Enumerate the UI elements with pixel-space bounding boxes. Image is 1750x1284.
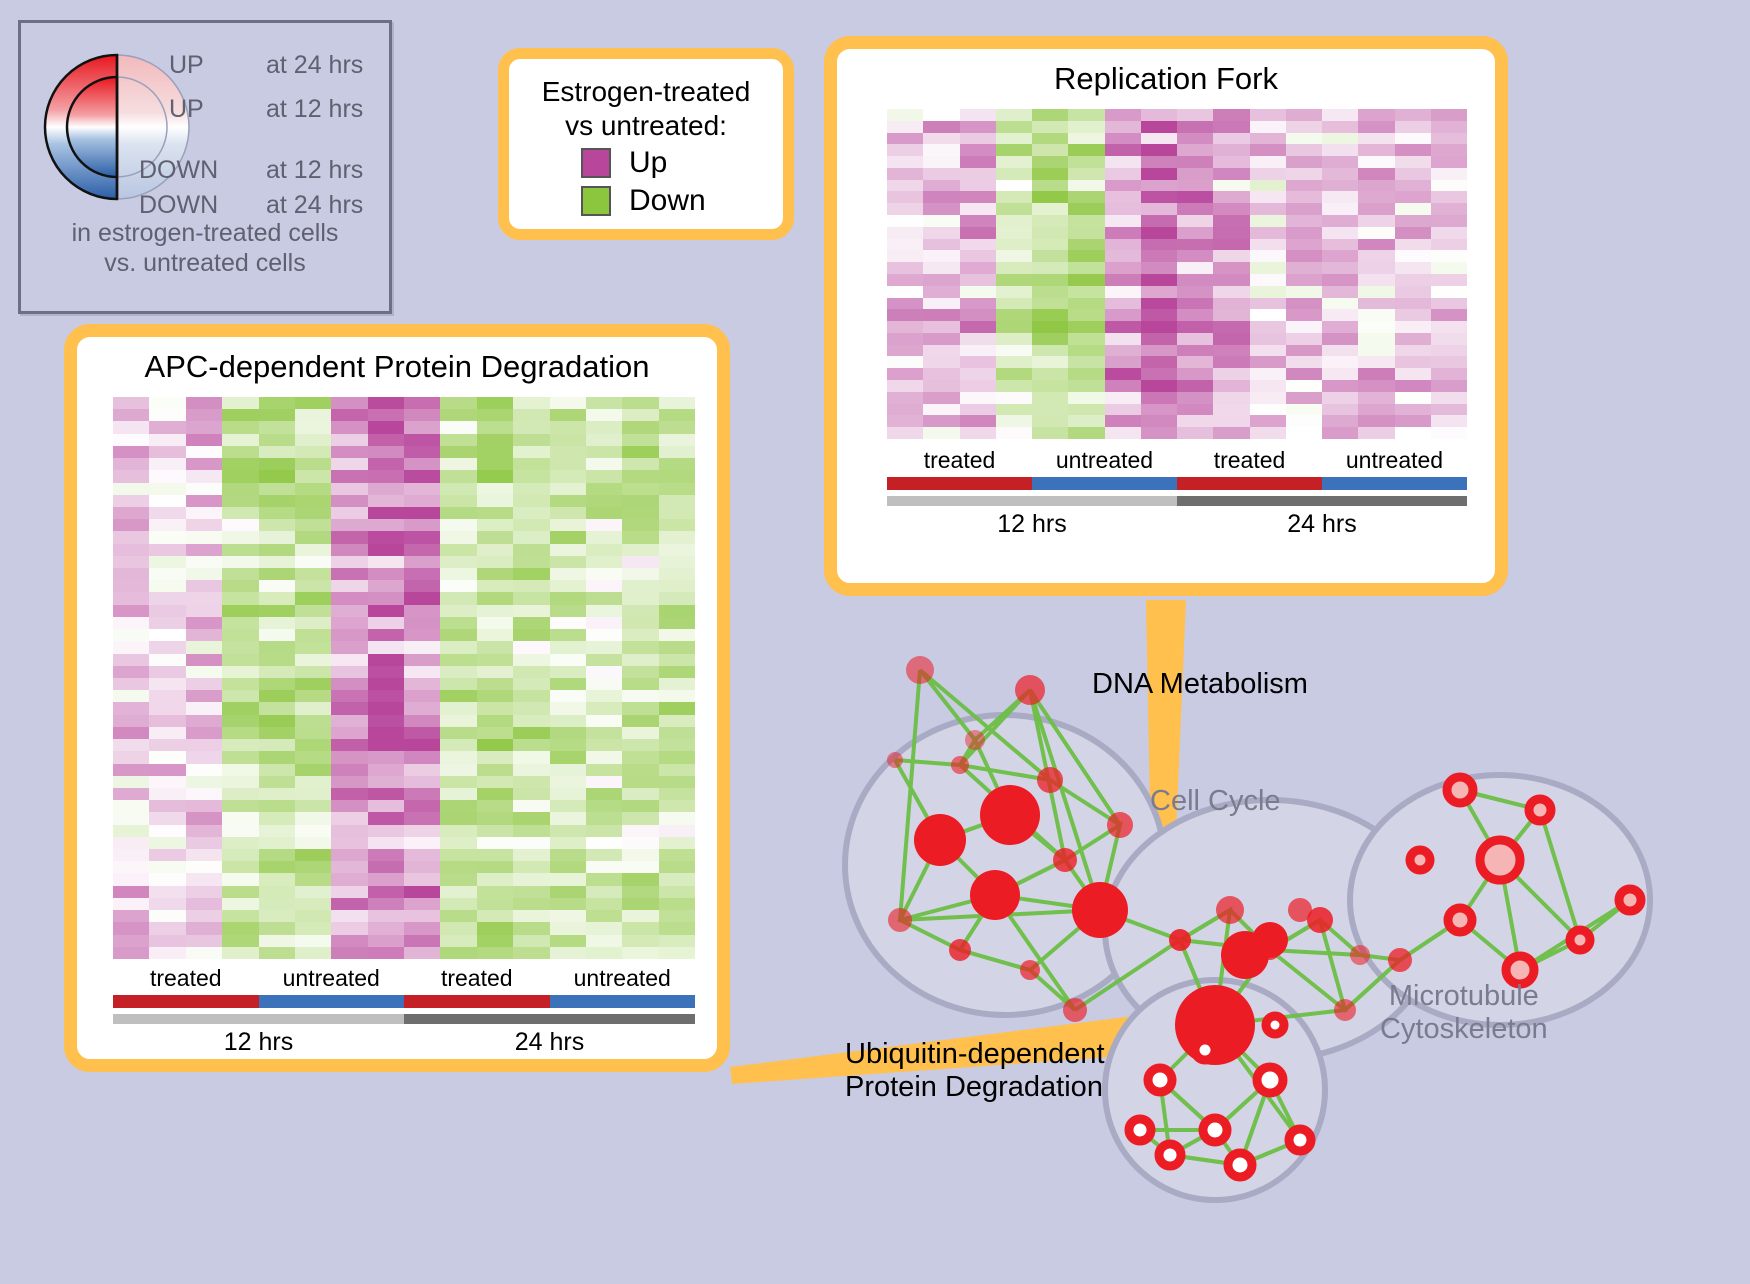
heatmap-cell [659, 544, 695, 556]
heatmap-cell [1322, 274, 1358, 286]
heatmap-cell [1250, 427, 1286, 439]
heatmap-cell [186, 409, 222, 421]
heatmap-cell [586, 837, 622, 849]
heatmap-cell [1322, 368, 1358, 380]
heatmap-cell [1105, 180, 1141, 192]
heatmap-cell [149, 397, 185, 409]
heatmap-cell [996, 191, 1032, 203]
heatmap-cell [586, 397, 622, 409]
heatmap-cell [659, 849, 695, 861]
heatmap-cell [586, 764, 622, 776]
heatmap-cell [887, 309, 923, 321]
heatmap-cell [186, 446, 222, 458]
heatmap-cell [622, 849, 658, 861]
heatmap-cell [222, 935, 258, 947]
heatmap-cell [586, 922, 622, 934]
heatmap-cell [1032, 133, 1068, 145]
heatmap-cell [887, 215, 923, 227]
heatmap-cell [404, 470, 440, 482]
heatmap-cell [404, 654, 440, 666]
heatmap-cell [1032, 345, 1068, 357]
heatmap-cell [295, 605, 331, 617]
heatmap-cell [1322, 404, 1358, 416]
heatmap-cell [331, 654, 367, 666]
heatmap-cell [622, 446, 658, 458]
heatmap-cell [1395, 239, 1431, 251]
heatmap-cell [1431, 274, 1467, 286]
heatmap-cell [1431, 109, 1467, 121]
heatmap-cell [149, 470, 185, 482]
heatmap-cell [477, 873, 513, 885]
heatmap-cell [440, 812, 476, 824]
heatmap-cell [186, 727, 222, 739]
heatmap-cell [887, 321, 923, 333]
bar-segment [550, 995, 696, 1008]
heatmap-cell [149, 507, 185, 519]
heatmap-cell [513, 397, 549, 409]
legend-time-label: at 12 hrs [266, 156, 363, 184]
legend-item-down-label: Down [629, 184, 706, 218]
heatmap-cell [1032, 427, 1068, 439]
heatmap-cell [1322, 156, 1358, 168]
heatmap-cell [513, 409, 549, 421]
heatmap-cell [550, 935, 586, 947]
heatmap-cell [1032, 286, 1068, 298]
heatmap-cell [222, 800, 258, 812]
heatmap-cell [996, 298, 1032, 310]
heatmap-cell [113, 727, 149, 739]
heatmap-cell [113, 666, 149, 678]
heatmap-cell [1213, 168, 1249, 180]
panel-apc-degradation: APC-dependent Protein Degradation treate… [64, 324, 730, 1072]
heatmap-cell [440, 702, 476, 714]
heatmap-cell [259, 666, 295, 678]
heatmap-cell [259, 873, 295, 885]
heatmap-cell [622, 898, 658, 910]
heatmap-cell [659, 702, 695, 714]
heatmap-cell [550, 825, 586, 837]
heatmap-cell [477, 910, 513, 922]
heatmap-cell [295, 556, 331, 568]
heatmap-cell [113, 861, 149, 873]
heatmap-cell [259, 580, 295, 592]
heatmap-cell [368, 519, 404, 531]
heatmap-cell [404, 507, 440, 519]
heatmap-cell [186, 776, 222, 788]
heatmap-cell [550, 947, 586, 959]
heatmap-cell [996, 321, 1032, 333]
heatmap-cell [1358, 356, 1394, 368]
heatmap-cell [331, 886, 367, 898]
heatmap-cell [996, 404, 1032, 416]
heatmap-cell [659, 409, 695, 421]
heatmap-cell [404, 629, 440, 641]
heatmap-cell [1286, 427, 1322, 439]
heatmap-cell [996, 227, 1032, 239]
heatmap-cell [1358, 345, 1394, 357]
heatmap-cell [1431, 298, 1467, 310]
heatmap-cell [923, 191, 959, 203]
condition-label: untreated [1032, 447, 1177, 474]
heatmap-cell [113, 837, 149, 849]
heatmap-cell [440, 605, 476, 617]
heatmap-cell [923, 333, 959, 345]
heatmap-cell [186, 849, 222, 861]
heatmap-cell [404, 556, 440, 568]
heatmap-cell [1141, 427, 1177, 439]
heatmap-cell [1141, 274, 1177, 286]
heatmap-cell [295, 531, 331, 543]
heatmap-cell [923, 404, 959, 416]
heatmap-cell [477, 922, 513, 934]
down-color-swatch [581, 186, 611, 216]
heatmap-cell [1358, 109, 1394, 121]
heatmap-cell [1068, 415, 1104, 427]
heatmap-cell [1177, 368, 1213, 380]
heatmap-cell [1068, 298, 1104, 310]
heatmap-cell [622, 751, 658, 763]
heatmap-cell [477, 617, 513, 629]
heatmap-cell [477, 434, 513, 446]
heatmap-cell [222, 910, 258, 922]
heatmap-cell [149, 556, 185, 568]
heatmap-apc [113, 397, 695, 959]
heatmap-cell [622, 507, 658, 519]
legend-direction-label: UP [169, 95, 204, 123]
heatmap-cell [1286, 203, 1322, 215]
time-labels-apc: 12 hrs 24 hrs [113, 1028, 695, 1057]
heatmap-cell [1250, 392, 1286, 404]
heatmap-cell [186, 556, 222, 568]
heatmap-cell [1068, 250, 1104, 262]
time-label: 24 hrs [404, 1028, 695, 1057]
heatmap-cell [1177, 191, 1213, 203]
heatmap-cell [622, 812, 658, 824]
heatmap-cell [331, 605, 367, 617]
heatmap-cell [331, 739, 367, 751]
heatmap-cell [586, 654, 622, 666]
heatmap-cell [259, 776, 295, 788]
heatmap-cell [622, 434, 658, 446]
heatmap-cell [550, 446, 586, 458]
heatmap-cell [622, 800, 658, 812]
heatmap-cell [622, 825, 658, 837]
legend-item-up: Up [581, 146, 773, 180]
heatmap-cell [295, 861, 331, 873]
heatmap-cell [960, 144, 996, 156]
heatmap-cell [1286, 392, 1322, 404]
heatmap-cell [1032, 274, 1068, 286]
heatmap-cell [513, 910, 549, 922]
heatmap-cell [923, 321, 959, 333]
heatmap-cell [960, 356, 996, 368]
heatmap-cell [622, 592, 658, 604]
heatmap-cell [513, 727, 549, 739]
heatmap-cell [295, 678, 331, 690]
heatmap-cell [331, 751, 367, 763]
heatmap-cell [331, 947, 367, 959]
legend-time-up-12: at 12 hrs [266, 95, 363, 124]
heatmap-cell [1177, 262, 1213, 274]
heatmap-cell [550, 886, 586, 898]
heatmap-cell [1177, 203, 1213, 215]
heatmap-cell [1358, 239, 1394, 251]
legend-row-up-24: UP [169, 51, 204, 80]
heatmap-cell [960, 274, 996, 286]
heatmap-cell [1358, 274, 1394, 286]
heatmap-cell [1250, 191, 1286, 203]
heatmap-cell [186, 519, 222, 531]
bar-segment [113, 1014, 404, 1024]
heatmap-cell [513, 641, 549, 653]
heatmap-cell [331, 849, 367, 861]
heatmap-cell [186, 922, 222, 934]
heatmap-cell [513, 800, 549, 812]
heatmap-cell [1213, 298, 1249, 310]
heatmap-cell [149, 678, 185, 690]
heatmap-cell [331, 592, 367, 604]
heatmap-cell [887, 121, 923, 133]
heatmap-cell [259, 470, 295, 482]
heatmap-cell [331, 922, 367, 934]
legend-time-label: at 12 hrs [266, 95, 363, 123]
heatmap-cell [1250, 309, 1286, 321]
heatmap-cell [404, 617, 440, 629]
heatmap-cell [477, 849, 513, 861]
heatmap-cell [295, 458, 331, 470]
heatmap-cell [1177, 274, 1213, 286]
heatmap-cell [1177, 392, 1213, 404]
heatmap-cell [222, 434, 258, 446]
heatmap-cell [1431, 144, 1467, 156]
heatmap-cell [1286, 239, 1322, 251]
heatmap-cell [222, 751, 258, 763]
heatmap-cell [1286, 144, 1322, 156]
legend-footer: in estrogen-treated cells vs. untreated … [21, 219, 389, 278]
heatmap-cell [887, 250, 923, 262]
heatmap-cell [477, 690, 513, 702]
heatmap-cell [1395, 180, 1431, 192]
heatmap-cell [1105, 345, 1141, 357]
heatmap-cell [1068, 286, 1104, 298]
heatmap-cell [1141, 286, 1177, 298]
heatmap-cell [1250, 415, 1286, 427]
heatmap-cell [923, 227, 959, 239]
time-color-bar-replication [887, 496, 1467, 506]
heatmap-cell [149, 935, 185, 947]
heatmap-cell [113, 629, 149, 641]
heatmap-cell [477, 409, 513, 421]
heatmap-cell [1141, 191, 1177, 203]
heatmap-cell [186, 690, 222, 702]
heatmap-cell [259, 800, 295, 812]
heatmap-cell [923, 133, 959, 145]
heatmap-cell [513, 568, 549, 580]
heatmap-cell [1032, 262, 1068, 274]
heatmap-cell [1105, 191, 1141, 203]
heatmap-cell [368, 556, 404, 568]
heatmap-cell [1286, 286, 1322, 298]
heatmap-cell [404, 580, 440, 592]
heatmap-cell [887, 180, 923, 192]
heatmap-cell [222, 519, 258, 531]
panel-replication-fork: Replication Fork treated untreated treat… [824, 36, 1508, 596]
heatmap-cell [513, 617, 549, 629]
heatmap-cell [295, 495, 331, 507]
heatmap-cell [404, 605, 440, 617]
heatmap-cell [149, 788, 185, 800]
time-color-bar-apc [113, 1014, 695, 1024]
heatmap-cell [1322, 180, 1358, 192]
heatmap-cell [1431, 191, 1467, 203]
heatmap-cell [1105, 286, 1141, 298]
heatmap-cell [960, 427, 996, 439]
heatmap-cell [404, 568, 440, 580]
heatmap-cell [113, 910, 149, 922]
heatmap-cell [1322, 121, 1358, 133]
heatmap-cell [1068, 333, 1104, 345]
heatmap-cell [513, 519, 549, 531]
heatmap-cell [1105, 239, 1141, 251]
heatmap-cell [550, 531, 586, 543]
heatmap-cell [1250, 109, 1286, 121]
heatmap-cell [960, 321, 996, 333]
heatmap-cell [295, 812, 331, 824]
heatmap-cell [622, 764, 658, 776]
heatmap-cell [622, 702, 658, 714]
heatmap-cell [404, 495, 440, 507]
heatmap-cell [1177, 156, 1213, 168]
heatmap-cell [996, 180, 1032, 192]
heatmap-cell [1322, 262, 1358, 274]
heatmap-cell [996, 121, 1032, 133]
heatmap-cell [186, 800, 222, 812]
heatmap-cell [295, 568, 331, 580]
heatmap-cell [222, 678, 258, 690]
heatmap-cell [477, 446, 513, 458]
heatmap-cell [586, 739, 622, 751]
heatmap-cell [113, 812, 149, 824]
heatmap-cell [149, 641, 185, 653]
heatmap-cell [186, 861, 222, 873]
bar-segment [1322, 477, 1467, 490]
heatmap-cell [222, 764, 258, 776]
heatmap-cell [1358, 168, 1394, 180]
heatmap-cell [1250, 404, 1286, 416]
heatmap-cell [513, 592, 549, 604]
heatmap-cell [550, 715, 586, 727]
heatmap-cell [1395, 333, 1431, 345]
heatmap-cell [960, 168, 996, 180]
heatmap-cell [659, 483, 695, 495]
heatmap-cell [513, 886, 549, 898]
heatmap-cell [960, 345, 996, 357]
heatmap-cell [440, 678, 476, 690]
heatmap-cell [440, 434, 476, 446]
heatmap-cell [1322, 427, 1358, 439]
heatmap-cell [1141, 333, 1177, 345]
heatmap-cell [1105, 156, 1141, 168]
heatmap-cell [440, 947, 476, 959]
heatmap-cell [259, 397, 295, 409]
heatmap-cell [923, 121, 959, 133]
heatmap-cell [1068, 262, 1104, 274]
heatmap-cell [960, 298, 996, 310]
heatmap-cell [1431, 345, 1467, 357]
heatmap-cell [887, 427, 923, 439]
heatmap-cell [113, 397, 149, 409]
condition-labels-replication: treated untreated treated untreated [887, 447, 1467, 474]
heatmap-cell [1213, 215, 1249, 227]
heatmap-cell [659, 739, 695, 751]
legend-time-up-24: at 24 hrs [266, 51, 363, 80]
heatmap-cell [1105, 215, 1141, 227]
heatmap-cell [295, 641, 331, 653]
heatmap-cell [659, 800, 695, 812]
heatmap-cell [186, 947, 222, 959]
heatmap-cell [477, 470, 513, 482]
heatmap-cell [368, 825, 404, 837]
heatmap-cell [1250, 144, 1286, 156]
heatmap-cell [186, 910, 222, 922]
heatmap-cell [1141, 250, 1177, 262]
heatmap-cell [440, 739, 476, 751]
condition-label: untreated [259, 965, 405, 992]
heatmap-cell [622, 910, 658, 922]
heatmap-cell [1141, 392, 1177, 404]
heatmap-cell [550, 654, 586, 666]
heatmap-cell [1250, 321, 1286, 333]
heatmap-cell [477, 544, 513, 556]
heatmap-cell [550, 873, 586, 885]
heatmap-cell [923, 144, 959, 156]
heatmap-cell [295, 739, 331, 751]
heatmap-cell [887, 415, 923, 427]
heatmap-cell [659, 666, 695, 678]
heatmap-cell [586, 568, 622, 580]
heatmap-cell [586, 861, 622, 873]
heatmap-cell [368, 800, 404, 812]
heatmap-cell [1032, 392, 1068, 404]
heatmap-cell [222, 483, 258, 495]
heatmap-cell [513, 470, 549, 482]
heatmap-cell [295, 788, 331, 800]
heatmap-cell [622, 483, 658, 495]
heatmap-cell [960, 203, 996, 215]
heatmap-cell [404, 458, 440, 470]
heatmap-cell [1105, 168, 1141, 180]
heatmap-cell [887, 356, 923, 368]
heatmap-cell [404, 397, 440, 409]
heatmap-cell [404, 764, 440, 776]
heatmap-cell [586, 544, 622, 556]
heatmap-cell [513, 849, 549, 861]
heatmap-cell [1177, 144, 1213, 156]
heatmap-cell [368, 910, 404, 922]
heatmap-cell [295, 580, 331, 592]
heatmap-cell [887, 380, 923, 392]
heatmap-cell [295, 592, 331, 604]
heatmap-cell [513, 483, 549, 495]
heatmap-cell [1431, 227, 1467, 239]
heatmap-cell [923, 168, 959, 180]
heatmap-cell [586, 812, 622, 824]
heatmap-cell [513, 825, 549, 837]
heatmap-cell [1395, 368, 1431, 380]
heatmap-cell [440, 592, 476, 604]
heatmap-cell [113, 849, 149, 861]
heatmap-cell [477, 421, 513, 433]
